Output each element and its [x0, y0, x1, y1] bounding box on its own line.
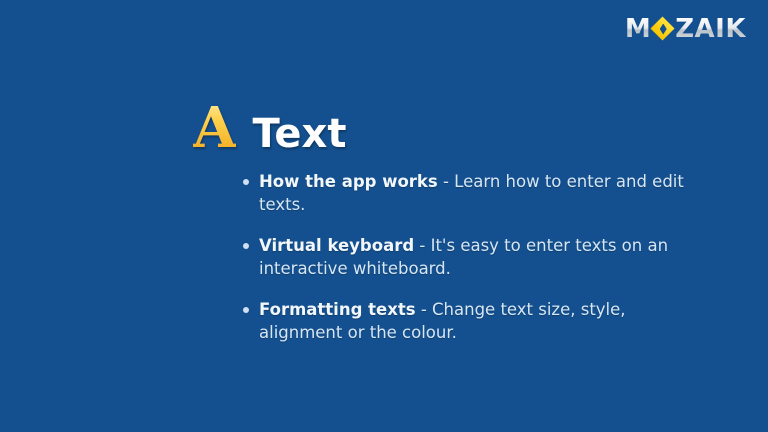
logo-text-m: M [625, 16, 651, 42]
list-item-text: How the app works - Learn how to enter a… [259, 170, 713, 217]
slide-canvas: M ZAIK mozaBook A Text How the app works… [0, 0, 768, 432]
list-item-text: Formatting texts - Change text size, sty… [259, 298, 713, 345]
bullet-dot-icon [243, 307, 249, 313]
letter-a-icon: A [193, 100, 236, 156]
page-title: A Text [193, 100, 346, 156]
list-item-lead: Virtual keyboard [259, 236, 414, 255]
bullet-dot-icon [243, 179, 249, 185]
list-item: Virtual keyboard - It's easy to enter te… [243, 234, 713, 281]
list-item: Formatting texts - Change text size, sty… [243, 298, 713, 345]
page-title-label: Text [252, 114, 346, 154]
bullet-dot-icon [243, 243, 249, 249]
mozaik-logo: M ZAIK [625, 14, 746, 44]
logo-text-zaik: ZAIK [675, 16, 746, 42]
list-item-text: Virtual keyboard - It's easy to enter te… [259, 234, 713, 281]
list-item: How the app works - Learn how to enter a… [243, 170, 713, 217]
list-item-lead: How the app works [259, 172, 438, 191]
feature-list: How the app works - Learn how to enter a… [243, 170, 713, 362]
list-item-lead: Formatting texts [259, 300, 416, 319]
diamond-icon [652, 18, 674, 40]
